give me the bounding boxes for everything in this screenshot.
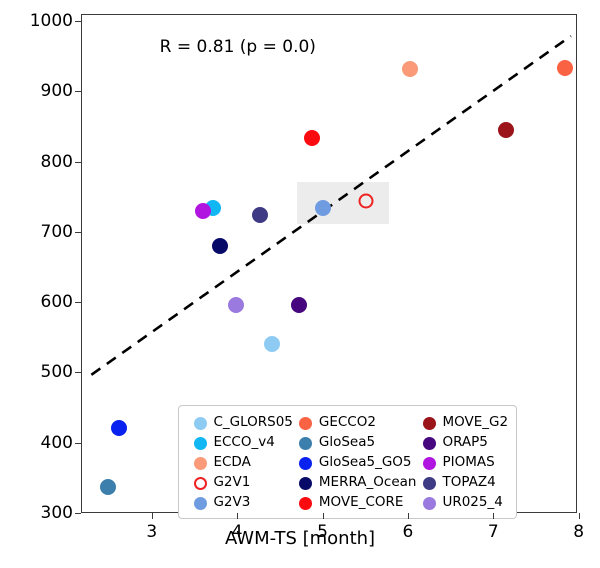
legend-marker-icon (299, 477, 312, 490)
legend-label: TOPAZ4 (442, 472, 508, 492)
legend-swatch-g2v3 (187, 492, 213, 512)
y-tick-mark (75, 513, 81, 514)
data-point-glosea5_go5 (111, 420, 127, 436)
legend-marker-icon (194, 417, 207, 430)
y-tick-label: 800 (13, 152, 73, 172)
data-point-orap5 (291, 297, 307, 313)
legend-marker-icon (423, 477, 436, 490)
y-tick-mark (75, 21, 81, 22)
x-tick-mark (408, 513, 409, 519)
y-tick-label: 600 (13, 292, 73, 312)
legend-row: ECDAGloSea5_GO5PIOMAS (187, 452, 508, 472)
y-tick-mark (75, 232, 81, 233)
legend-swatch-move_g2 (416, 412, 442, 432)
legend-label: GloSea5 (319, 432, 417, 452)
data-point-glosea5 (100, 479, 116, 495)
legend-label: ECCO_v4 (213, 432, 292, 452)
legend-swatch-glosea5 (293, 432, 319, 452)
legend-swatch-topaz4 (416, 472, 442, 492)
legend-marker-icon (423, 457, 436, 470)
data-point-g2v1 (359, 194, 374, 209)
x-tick-mark (579, 513, 580, 519)
legend-label: UR025_4 (442, 492, 508, 512)
x-tick-mark (493, 513, 494, 519)
legend: C_GLORS05GECCO2MOVE_G2ECCO_v4GloSea5ORAP… (178, 405, 517, 519)
legend-row: ECCO_v4GloSea5ORAP5 (187, 432, 508, 452)
legend-marker-icon (423, 417, 436, 430)
legend-marker-icon (299, 437, 312, 450)
legend-swatch-ecco_v4 (187, 432, 213, 452)
x-axis-title: AWM-TS [month] (225, 528, 375, 549)
legend-swatch-g2v1 (187, 472, 213, 492)
legend-swatch-c_glors05 (187, 412, 213, 432)
plot-area: R = 0.81 (p = 0.0) C_GLORS05GECCO2MOVE_G… (81, 14, 577, 513)
y-tick-label: 900 (13, 81, 73, 101)
y-tick-label: 300 (13, 503, 73, 523)
y-tick-mark (75, 302, 81, 303)
legend-label: PIOMAS (442, 452, 508, 472)
y-tick-mark (75, 372, 81, 373)
legend-marker-icon (299, 497, 312, 510)
legend-marker-icon (194, 497, 207, 510)
legend-label: GECCO2 (319, 412, 417, 432)
legend-swatch-orap5 (416, 432, 442, 452)
legend-marker-icon (299, 417, 312, 430)
data-point-g2v3 (315, 200, 331, 216)
legend-label: ECDA (213, 452, 292, 472)
legend-swatch-merra_ocean (293, 472, 319, 492)
legend-label: G2V3 (213, 492, 292, 512)
x-tick-label: 7 (473, 522, 513, 542)
legend-marker-icon (194, 457, 207, 470)
legend-swatch-ecda (187, 452, 213, 472)
data-point-merra_ocean (212, 238, 228, 254)
x-tick-label: 6 (388, 522, 428, 542)
legend-swatch-glosea5_go5 (293, 452, 319, 472)
legend-swatch-move_core (293, 492, 319, 512)
y-tick-mark (75, 443, 81, 444)
legend-marker-icon (423, 497, 436, 510)
legend-swatch-ur025_4 (416, 492, 442, 512)
legend-label: MERRA_Ocean (319, 472, 417, 492)
legend-row: C_GLORS05GECCO2MOVE_G2 (187, 412, 508, 432)
legend-table: C_GLORS05GECCO2MOVE_G2ECCO_v4GloSea5ORAP… (187, 412, 508, 512)
y-tick-label: 700 (13, 222, 73, 242)
y-tick-label: 500 (13, 362, 73, 382)
data-point-ecda (402, 61, 418, 77)
legend-row: G2V3MOVE_COREUR025_4 (187, 492, 508, 512)
data-point-move_g2 (498, 122, 514, 138)
data-point-topaz4 (252, 207, 268, 223)
data-point-piomas (195, 203, 211, 219)
x-tick-mark (237, 513, 238, 519)
y-tick-mark (75, 91, 81, 92)
x-tick-label: 3 (132, 522, 172, 542)
legend-row: G2V1MERRA_OceanTOPAZ4 (187, 472, 508, 492)
legend-swatch-gecco2 (293, 412, 319, 432)
x-tick-mark (323, 513, 324, 519)
y-tick-mark (75, 162, 81, 163)
x-tick-mark (152, 513, 153, 519)
data-point-move_core (304, 130, 320, 146)
highlight-region (297, 182, 389, 225)
data-point-ur025_4 (228, 297, 244, 313)
scatter-plot-figure: R = 0.81 (p = 0.0) C_GLORS05GECCO2MOVE_G… (0, 0, 600, 568)
legend-label: ORAP5 (442, 432, 508, 452)
legend-marker-icon (194, 477, 207, 490)
legend-marker-icon (299, 457, 312, 470)
legend-label: MOVE_G2 (442, 412, 508, 432)
legend-label: G2V1 (213, 472, 292, 492)
y-tick-label: 1000 (13, 11, 73, 31)
data-point-gecco2 (557, 60, 573, 76)
legend-label: C_GLORS05 (213, 412, 292, 432)
legend-label: GloSea5_GO5 (319, 452, 417, 472)
correlation-annotation: R = 0.81 (p = 0.0) (160, 37, 316, 57)
legend-marker-icon (423, 437, 436, 450)
legend-marker-icon (194, 437, 207, 450)
legend-swatch-piomas (416, 452, 442, 472)
x-tick-label: 8 (559, 522, 599, 542)
data-point-c_glors05 (264, 336, 280, 352)
y-tick-label: 400 (13, 433, 73, 453)
legend-label: MOVE_CORE (319, 492, 417, 512)
